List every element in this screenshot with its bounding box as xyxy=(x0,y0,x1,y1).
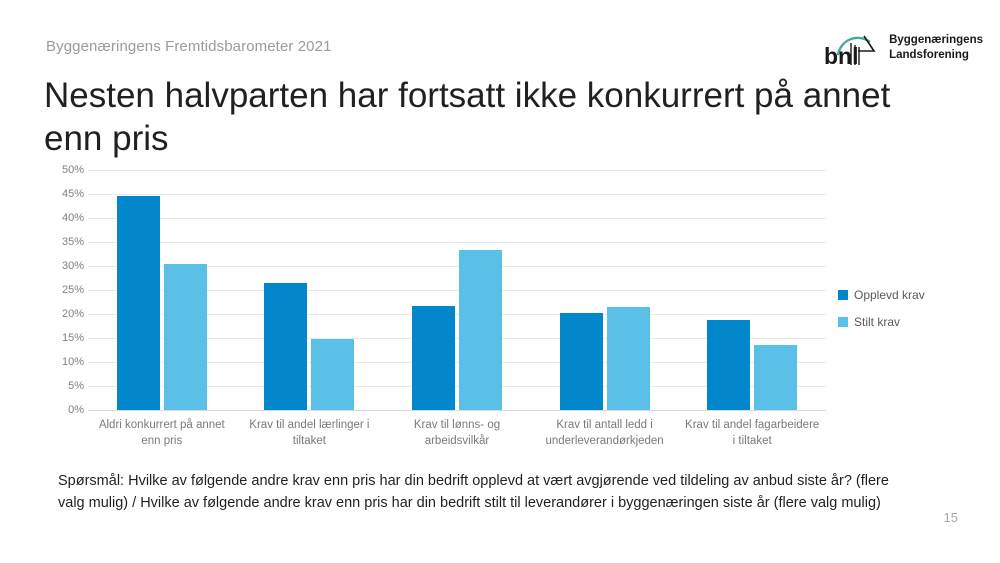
y-axis: 50%45%40%35%30%25%20%15%10%5%0% xyxy=(46,170,84,410)
bar-group xyxy=(678,170,826,410)
y-axis-tick-label: 50% xyxy=(62,164,84,176)
bnl-logo-mark-icon: bnl xyxy=(824,27,880,69)
y-axis-tick-label: 20% xyxy=(62,308,84,320)
slide: Byggenæringens Fremtidsbarometer 2021 Ne… xyxy=(0,0,1000,563)
legend-item[interactable]: Stilt krav xyxy=(838,315,925,329)
slide-eyebrow: Byggenæringens Fremtidsbarometer 2021 xyxy=(46,38,332,55)
y-axis-tick-label: 45% xyxy=(62,188,84,200)
bar[interactable] xyxy=(311,339,354,410)
bar[interactable] xyxy=(560,313,603,410)
plot-area xyxy=(88,170,826,410)
legend-swatch xyxy=(838,317,848,327)
y-axis-tick-label: 5% xyxy=(68,380,84,392)
x-axis-labels: Aldri konkurrert på annet enn prisKrav t… xyxy=(88,412,826,462)
bar[interactable] xyxy=(117,196,160,410)
legend-item[interactable]: Opplevd krav xyxy=(838,288,925,302)
chart-legend: Opplevd kravStilt krav xyxy=(838,288,925,329)
bar-group xyxy=(383,170,531,410)
x-axis-category-label: Krav til andel fagarbeidere i tiltaket xyxy=(678,412,826,462)
x-axis-category-label: Krav til lønns- og arbeidsvilkår xyxy=(383,412,531,462)
page-title: Nesten halvparten har fortsatt ikke konk… xyxy=(44,74,924,160)
bar[interactable] xyxy=(707,320,750,410)
bar[interactable] xyxy=(164,264,207,410)
legend-swatch xyxy=(838,290,848,300)
y-axis-tick-label: 40% xyxy=(62,212,84,224)
bar[interactable] xyxy=(459,250,502,410)
bar-chart: 50%45%40%35%30%25%20%15%10%5%0% Aldri ko… xyxy=(46,162,836,462)
y-axis-tick-label: 0% xyxy=(68,404,84,416)
legend-label: Opplevd krav xyxy=(854,288,925,302)
y-axis-tick-label: 30% xyxy=(62,260,84,272)
x-axis-category-label: Krav til andel lærlinger i tiltaket xyxy=(236,412,384,462)
bnl-logo-organisation: Byggenæringens Landsforening xyxy=(889,33,983,62)
bar[interactable] xyxy=(264,283,307,410)
bar[interactable] xyxy=(412,306,455,410)
bar-group xyxy=(88,170,236,410)
page-number: 15 xyxy=(944,510,958,525)
y-axis-tick-label: 10% xyxy=(62,356,84,368)
y-axis-tick-label: 35% xyxy=(62,236,84,248)
bar-group xyxy=(236,170,384,410)
legend-label: Stilt krav xyxy=(854,315,900,329)
gridline xyxy=(88,410,826,411)
bar-group xyxy=(531,170,679,410)
bar[interactable] xyxy=(607,307,650,410)
x-axis-category-label: Krav til antall ledd i underleverandørkj… xyxy=(531,412,679,462)
y-axis-tick-label: 25% xyxy=(62,284,84,296)
bnl-wordmark: bnl xyxy=(824,43,859,69)
bar-groups xyxy=(88,170,826,410)
bnl-logo: bnl Byggenæringens Landsforening xyxy=(824,26,983,70)
y-axis-tick-label: 15% xyxy=(62,332,84,344)
bar[interactable] xyxy=(754,345,797,410)
x-axis-category-label: Aldri konkurrert på annet enn pris xyxy=(88,412,236,462)
footnote: Spørsmål: Hvilke av følgende andre krav … xyxy=(58,470,918,514)
